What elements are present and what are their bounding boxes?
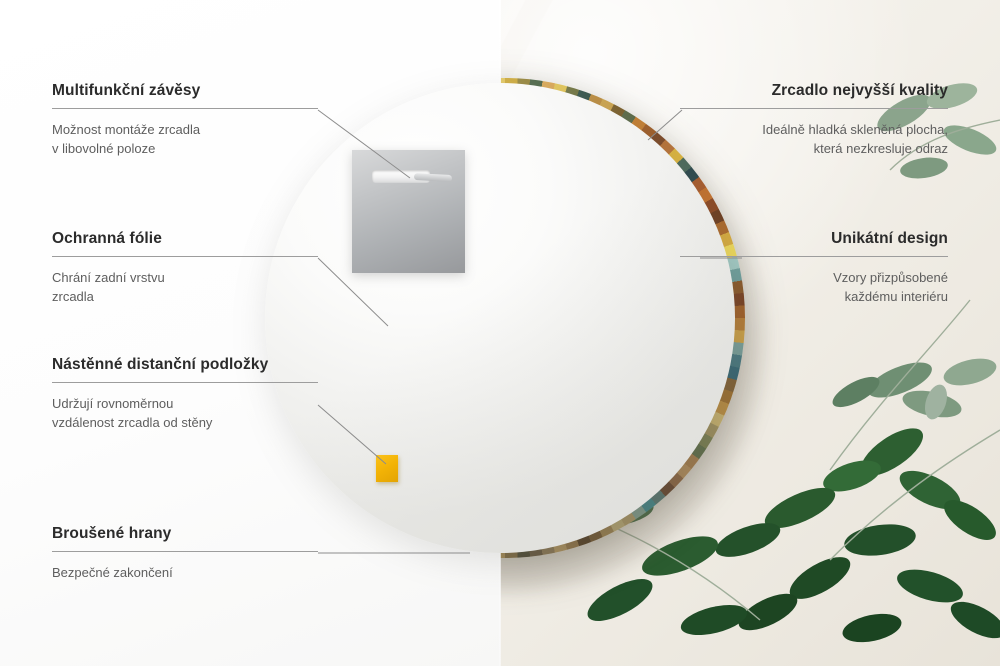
feature-block-multifunkcni-zavesy: Multifunkční závěsy Možnost montáže zrca… [52,82,318,158]
mirror-back-panel-shading [265,83,735,553]
feature-description: Udržují rovnoměrnou vzdálenost zrcadla o… [52,394,318,432]
feature-block-brousene-hrany: Broušené hrany Bezpečné zakončení [52,525,318,582]
feature-description: Bezpečné zakončení [52,563,318,582]
feature-rule [52,256,318,257]
feature-title: Broušené hrany [52,525,318,544]
feature-block-unikatni-design: Unikátní design Vzory přizpůsobené každé… [680,230,948,306]
feature-block-distancni-podlozky: Nástěnné distanční podložky Udržují rovn… [52,356,318,432]
hanger-plate [352,150,465,273]
feature-rule [680,256,948,257]
feature-title: Ochranná fólie [52,230,318,249]
feature-description: Ideálně hladká skleněná plocha, která ne… [680,120,948,158]
feature-rule [680,108,948,109]
feature-rule [52,551,318,552]
feature-rule [52,108,318,109]
infographic-canvas: Multifunkční závěsy Možnost montáže zrca… [0,0,1000,666]
feature-description: Možnost montáže zrcadla v libovolné polo… [52,120,318,158]
feature-block-ochranna-folie: Ochranná fólie Chrání zadní vrstvu zrcad… [52,230,318,306]
feature-description: Chrání zadní vrstvu zrcadla [52,268,318,306]
wall-spacer-pad [376,455,398,482]
feature-title: Unikátní design [680,230,948,249]
feature-description: Vzory přizpůsobené každému interiéru [680,268,948,306]
feature-title: Multifunkční závěsy [52,82,318,101]
feature-title: Nástěnné distanční podložky [52,356,318,375]
feature-block-zrcadlo-nejvyssi-kvality: Zrcadlo nejvyšší kvality Ideálně hladká … [680,82,948,158]
feature-title: Zrcadlo nejvyšší kvality [680,82,948,101]
feature-rule [52,382,318,383]
